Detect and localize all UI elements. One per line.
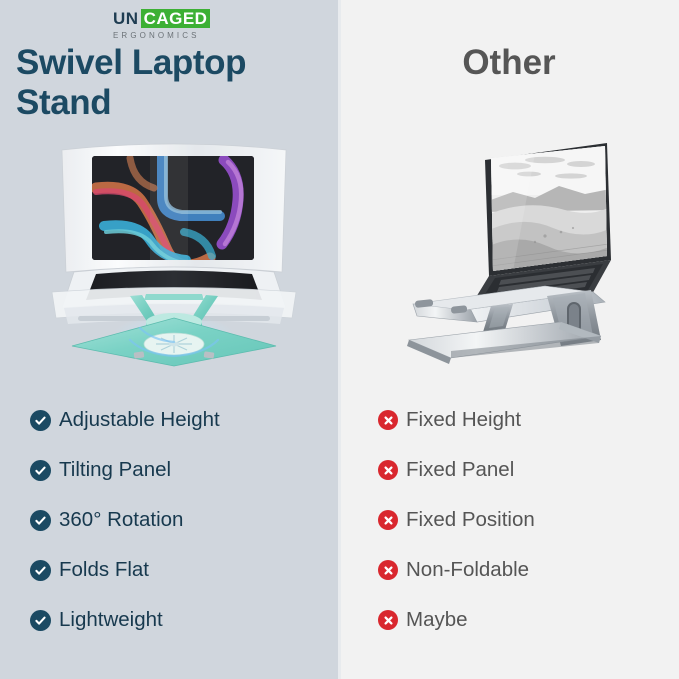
list-item: Fixed Height (378, 395, 668, 445)
list-item-label: 360° Rotation (59, 509, 183, 531)
list-item-label: Lightweight (59, 609, 163, 631)
list-item: Fixed Position (378, 495, 668, 545)
list-item-label: Fixed Height (406, 409, 521, 431)
brand-logo-caged: CAGED (141, 9, 211, 28)
x-icon (378, 460, 398, 480)
list-item: Tilting Panel (30, 445, 330, 495)
check-icon (30, 560, 51, 581)
right-product-image (395, 140, 640, 368)
list-item-label: Adjustable Height (59, 409, 220, 431)
brand-logo-un: UN (113, 9, 141, 28)
list-item-label: Fixed Panel (406, 459, 514, 481)
list-item-label: Tilting Panel (59, 459, 171, 481)
pro-feature-list: Adjustable Height Tilting Panel 360° Rot… (30, 395, 330, 645)
list-item-label: Non-Foldable (406, 559, 529, 581)
left-product-image (34, 140, 314, 368)
x-icon (378, 410, 398, 430)
con-feature-list: Fixed Height Fixed Panel Fixed Position … (378, 395, 668, 645)
comparison-infographic: UN CAGED ERGONOMICS Swivel Laptop Stand … (0, 0, 679, 679)
column-divider (338, 0, 341, 679)
list-item: Non-Foldable (378, 545, 668, 595)
check-icon (30, 510, 51, 531)
list-item-label: Maybe (406, 609, 468, 631)
list-item: Folds Flat (30, 545, 330, 595)
check-icon (30, 610, 51, 631)
list-item: Adjustable Height (30, 395, 330, 445)
list-item-label: Folds Flat (59, 559, 149, 581)
brand-logo-tagline: ERGONOMICS (113, 31, 225, 41)
list-item-label: Fixed Position (406, 509, 535, 531)
list-item: Fixed Panel (378, 445, 668, 495)
list-item: Lightweight (30, 595, 330, 645)
x-icon (378, 610, 398, 630)
brand-logo: UN CAGED ERGONOMICS (113, 9, 225, 41)
right-column-heading: Other (339, 43, 679, 83)
brand-logo-wordmark: UN CAGED (113, 9, 225, 28)
x-icon (378, 510, 398, 530)
check-icon (30, 460, 51, 481)
list-item: 360° Rotation (30, 495, 330, 545)
x-icon (378, 560, 398, 580)
check-icon (30, 410, 51, 431)
left-column-heading: Swivel Laptop Stand (16, 43, 336, 123)
list-item: Maybe (378, 595, 668, 645)
